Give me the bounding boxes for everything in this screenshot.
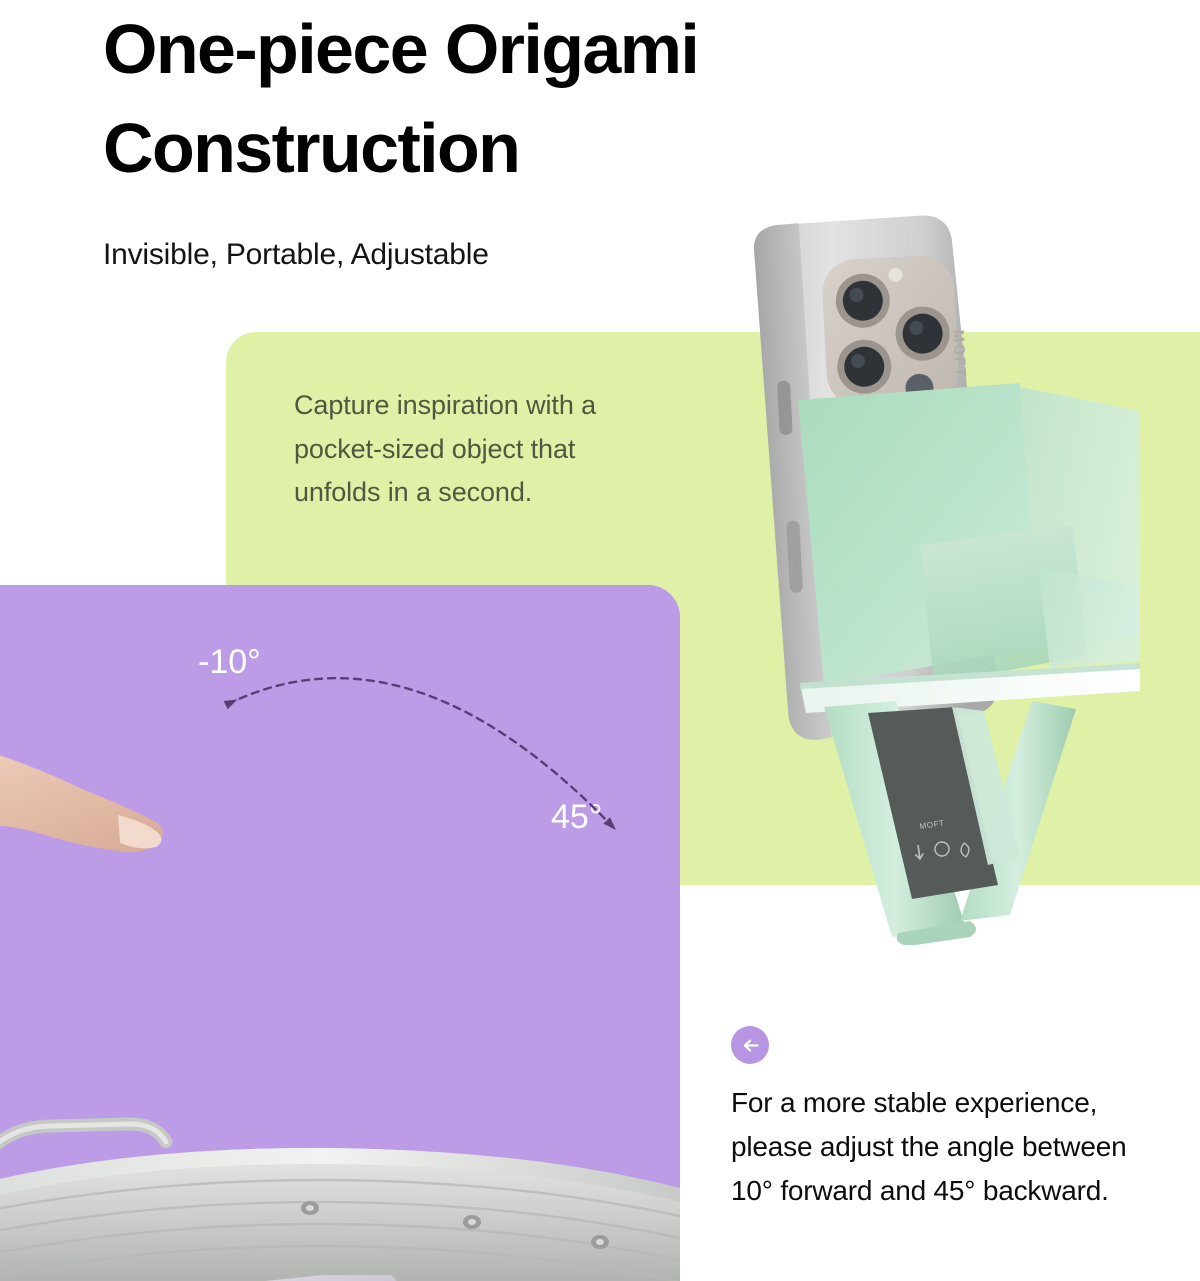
purple-feature-panel: MOFT MOFT [0, 585, 680, 1281]
bottom-note-block: For a more stable experience, please adj… [731, 1026, 1171, 1214]
bottom-note-text: For a more stable experience, please adj… [731, 1064, 1171, 1214]
aluminum-suitcase-illustration [0, 1090, 680, 1281]
lavender-phone-stand-render: MOFT MOFT [190, 1275, 630, 1281]
arrow-left-icon [731, 1026, 769, 1064]
green-callout-text: Capture inspiration with a pocket-sized … [294, 384, 684, 515]
brand-wordmark: MOFT [949, 329, 969, 378]
hand-shape [0, 741, 163, 1005]
pointing-hand-illustration [0, 705, 204, 1005]
product-feature-page: One-piece Origami Construction Invisible… [0, 0, 1200, 1281]
angle-max-label: 45° [551, 800, 602, 834]
page-title: One-piece Origami Construction [103, 0, 963, 199]
mint-phone-stand-render: MOFT MOFT [720, 215, 1140, 945]
back-phone-case [220, 1275, 439, 1281]
angle-min-label: -10° [198, 645, 261, 679]
